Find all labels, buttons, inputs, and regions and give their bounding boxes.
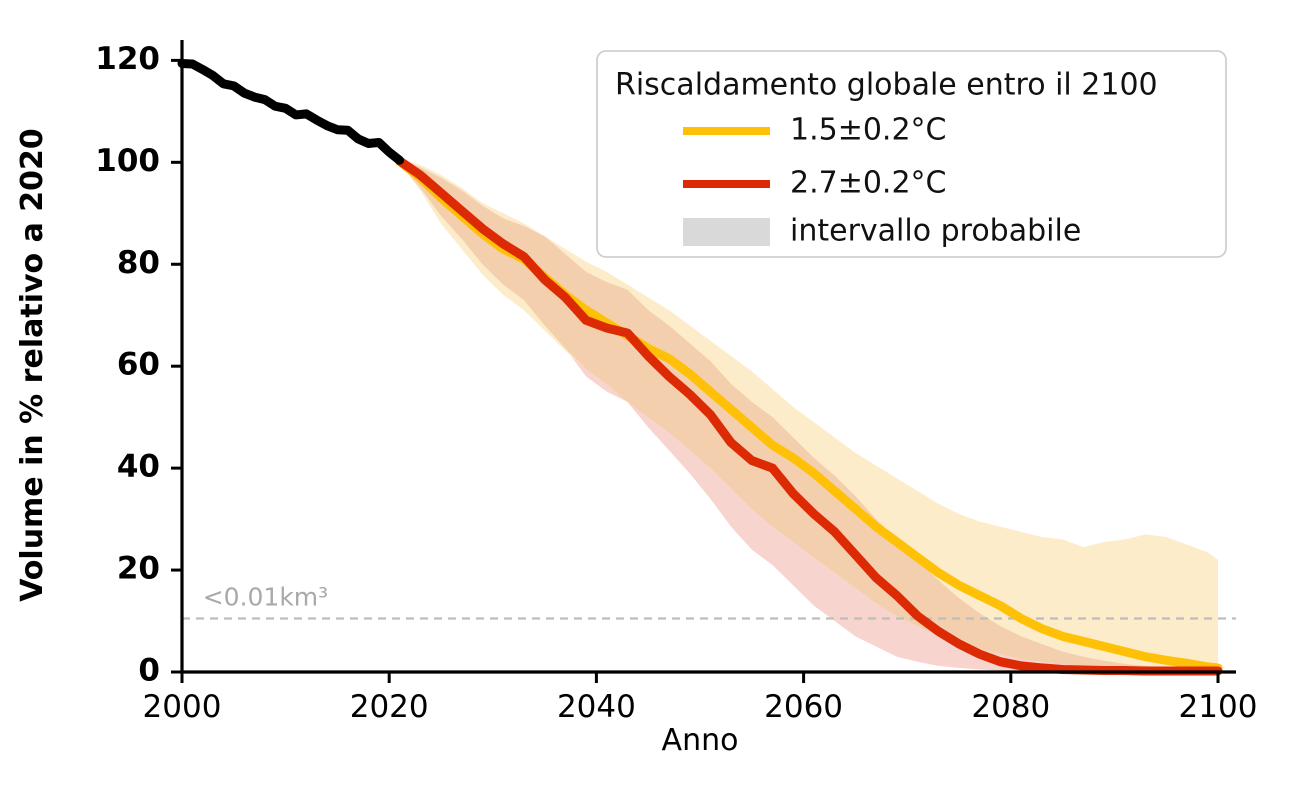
y-tick-label: 120 [95, 41, 160, 77]
chart-figure: 200020202040206020802100 020406080100120… [0, 0, 1300, 800]
x-tick-label: 2040 [557, 689, 636, 725]
x-tick-label: 2000 [143, 689, 222, 725]
y-axis-title: Volume in % relativo a 2020 [15, 128, 50, 602]
y-tick-label: 0 [138, 653, 160, 689]
y-tick-label: 100 [95, 143, 160, 179]
x-tick-label: 2020 [350, 689, 429, 725]
legend-title: Riscaldamento globale entro il 2100 [615, 68, 1158, 103]
y-tick-label: 60 [117, 347, 160, 383]
x-tick-label: 2100 [1179, 689, 1258, 725]
x-axis-title: Anno [662, 723, 739, 758]
y-tick-label: 20 [117, 551, 160, 587]
chart-legend[interactable]: Riscaldamento globale entro il 2100 1.5±… [597, 51, 1226, 257]
legend-swatch-interval [683, 218, 770, 246]
x-tick-label: 2060 [764, 689, 843, 725]
legend-label-2-7C[interactable]: 2.7±0.2°C [790, 166, 947, 201]
y-tick-label: 80 [117, 245, 160, 281]
legend-label-interval[interactable]: intervallo probabile [790, 214, 1081, 249]
threshold-annotation-label: <0.01km³ [203, 582, 328, 611]
chart-svg: 200020202040206020802100 020406080100120… [0, 0, 1300, 800]
x-tick-label: 2080 [971, 689, 1050, 725]
legend-label-1-5C[interactable]: 1.5±0.2°C [790, 113, 947, 148]
y-tick-label: 40 [117, 449, 160, 485]
